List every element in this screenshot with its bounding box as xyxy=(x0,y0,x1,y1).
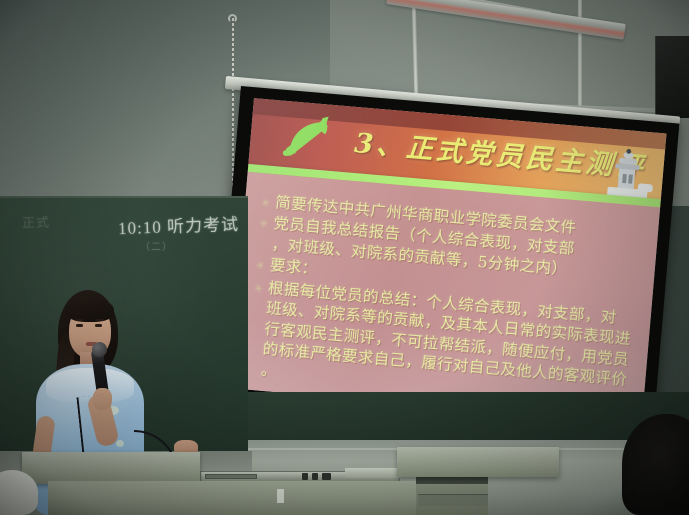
bullet-marker-icon: ✳ xyxy=(261,198,271,210)
av-control-button[interactable] xyxy=(322,473,331,480)
podium-tape-mark xyxy=(277,489,284,503)
av-disc-slot[interactable] xyxy=(205,474,257,479)
hammer-and-sickle-emblem xyxy=(279,111,341,162)
screen-frame: 3、正式党员民主测评 xyxy=(214,86,679,434)
ceiling-speaker xyxy=(655,36,689,118)
projection-screen[interactable]: 3、正式党员民主测评 xyxy=(214,86,679,434)
av-control-button[interactable] xyxy=(302,473,308,480)
bullet-line: 要求： xyxy=(269,257,318,279)
bullet-marker-icon: ✳ xyxy=(253,284,263,296)
chalk-time-note: 10:10 听力考试 xyxy=(118,210,240,239)
av-equipment-panel[interactable] xyxy=(345,468,401,478)
av-control-button[interactable] xyxy=(312,473,318,480)
slide-body: ✳ 简要传达中共广州华商职业学院委员会文件 ✳ 党员自我总结报告（个人综合表现，… xyxy=(229,180,659,424)
podium-desktop-right xyxy=(397,447,559,477)
podium-shelf xyxy=(418,494,488,506)
podium-front-panel xyxy=(48,481,416,515)
classroom-scene: 3、正式党员民主测评 xyxy=(0,0,689,515)
eyebrow-left xyxy=(75,319,84,321)
eye-left xyxy=(76,324,83,327)
hair-fringe xyxy=(66,298,114,322)
presentation-slide: 3、正式党员民主测评 xyxy=(229,98,666,423)
bullet-marker-icon: ✳ xyxy=(259,220,269,232)
eyebrow-right xyxy=(95,319,104,321)
podium-desktop-left xyxy=(22,452,200,484)
screen-surface: 3、正式党员民主测评 xyxy=(229,98,666,423)
bullet-line: 。 xyxy=(260,360,277,379)
eye-right xyxy=(95,324,102,327)
chalk-faint-text: 正式 xyxy=(22,212,51,232)
bullet-marker-icon: ✳ xyxy=(255,261,265,273)
chalk-sub-note: （二） xyxy=(140,238,173,253)
